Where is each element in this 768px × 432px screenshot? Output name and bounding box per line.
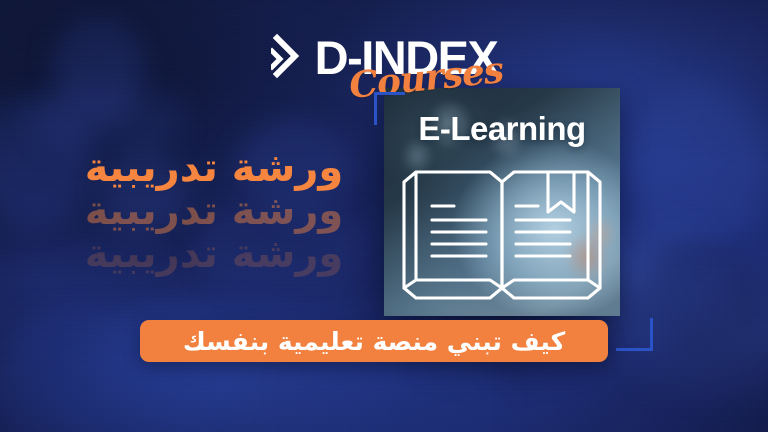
bokeh-dot-7 bbox=[624, 84, 768, 244]
double-chevron-right-icon bbox=[271, 34, 305, 80]
subtitle-banner-text: كيف تبني منصة تعليمية بنفسك bbox=[183, 329, 565, 354]
headline-stack: ورشة تدريبية ورشة تدريبية ورشة تدريبية bbox=[26, 148, 402, 276]
bokeh-dot-8 bbox=[640, 236, 768, 356]
elearning-card: E-Learning bbox=[384, 88, 620, 316]
headline-line-3: ورشة تدريبية bbox=[26, 234, 402, 275]
poster-canvas: D-INDEX Courses ورشة تدريبية ورشة تدريبي… bbox=[0, 0, 768, 432]
elearning-card-title: E-Learning bbox=[384, 110, 620, 148]
bokeh-dot-3 bbox=[34, 92, 184, 150]
corner-bracket-bottom-right-icon bbox=[616, 318, 653, 351]
brand-wordmark: D-INDEX Courses bbox=[315, 34, 498, 81]
brand-logo: D-INDEX Courses bbox=[0, 26, 768, 88]
headline-line-2: ورشة تدريبية bbox=[26, 191, 402, 232]
headline-line-1: ورشة تدريبية bbox=[26, 148, 402, 189]
corner-bracket-top-left-icon bbox=[374, 92, 405, 125]
subtitle-banner: كيف تبني منصة تعليمية بنفسك bbox=[140, 320, 608, 362]
open-book-icon bbox=[398, 160, 606, 308]
